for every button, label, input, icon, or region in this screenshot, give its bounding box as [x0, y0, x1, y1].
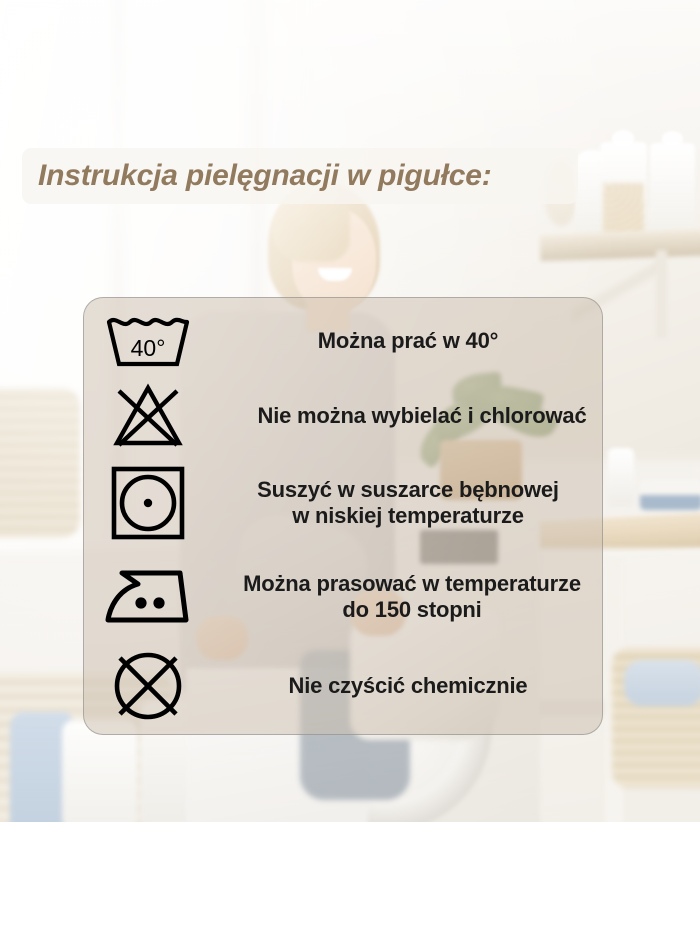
care-row: Suszyć w suszarce bębnowej w niskiej tem… [84, 460, 604, 546]
tumble-dry-low-icon [84, 465, 212, 541]
care-row: Nie czyścić chemicznie [84, 648, 604, 724]
page-title: Instrukcja pielęgnacji w pigułce: [38, 159, 492, 193]
care-row: 40° Można prać w 40° [84, 310, 604, 372]
care-row-label: Można prać w 40° [212, 328, 604, 354]
care-row-label: Nie można wybielać i chlorować [212, 403, 632, 429]
svg-text:40°: 40° [131, 335, 166, 361]
care-symbols-panel: 40° Można prać w 40° Nie można wybielać … [83, 297, 603, 735]
care-row-label: Suszyć w suszarce bębnowej w niskiej tem… [212, 477, 604, 529]
care-row: Można prasować w temperaturze do 150 sto… [84, 554, 612, 640]
care-row: Nie można wybielać i chlorować [84, 380, 632, 452]
care-row-label: Nie czyścić chemicznie [212, 673, 604, 699]
wash-tub-40-icon: 40° [84, 314, 212, 368]
iron-two-dots-icon [84, 566, 212, 628]
do-not-dry-clean-icon [84, 648, 212, 724]
care-row-label: Można prasować w temperaturze do 150 sto… [212, 571, 612, 623]
title-band: Instrukcja pielęgnacji w pigułce: [22, 148, 578, 204]
care-instructions-infographic: Instrukcja pielęgnacji w pigułce: 40° Mo… [0, 0, 700, 945]
do-not-bleach-icon [84, 383, 212, 449]
